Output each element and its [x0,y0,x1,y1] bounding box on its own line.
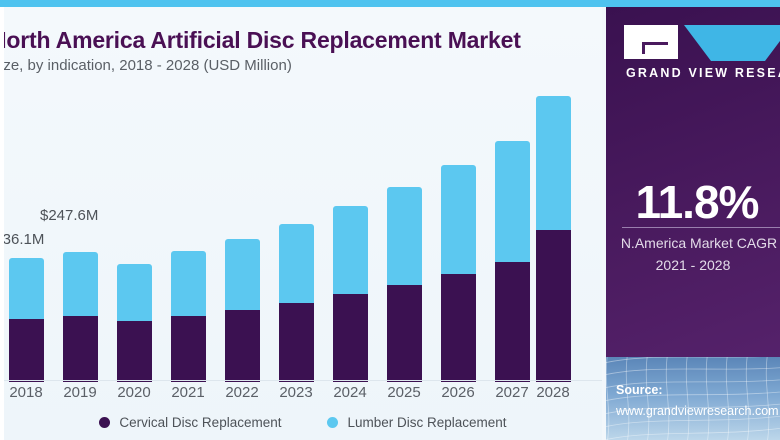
x-axis-labels: 2018201920202021202220232024202520262027… [4,384,602,406]
bar-group[interactable] [63,252,98,382]
bar-segment-lumber [441,165,476,274]
bar-segment-lumber [333,206,368,294]
x-axis-label: 2022 [213,384,271,401]
bar-segment-lumber [387,187,422,285]
logo-g-icon [624,25,678,59]
bar-segment-cervical [225,310,260,382]
bar-segment-lumber [225,239,260,310]
bar-segment-lumber [117,264,152,321]
bar-group[interactable] [441,165,476,382]
x-axis-label: 2028 [524,384,582,401]
top-accent-rule [0,0,780,7]
bar-segment-cervical [117,321,152,382]
legend-item-cervical[interactable]: Cervical Disc Replacement [99,415,281,430]
bar-segment-cervical [495,262,530,382]
bar-data-label: $247.6M [40,207,98,224]
page-title: North America Artificial Disc Replacemen… [4,27,602,54]
bar-group[interactable] [9,258,44,382]
bar-group[interactable] [495,141,530,382]
logo-v-triangle-icon [684,25,780,61]
legend-label-lumber: Lumber Disc Replacement [347,415,506,430]
bar-group[interactable] [225,239,260,382]
source-url[interactable]: www.grandviewresearch.com [616,404,779,418]
x-axis-label: 2020 [105,384,163,401]
bar-group[interactable] [333,206,368,382]
cagr-divider [622,227,780,228]
logo-marks [624,25,780,61]
bar-plot-area: $236.1M$247.6M [4,87,602,382]
legend-dot-cervical [99,417,110,428]
x-axis-label: 2025 [375,384,433,401]
x-axis-label: 2026 [429,384,487,401]
legend-label-cervical: Cervical Disc Replacement [119,415,281,430]
bar-segment-cervical [171,316,206,382]
bar-group[interactable] [536,96,571,382]
x-axis-label: 2021 [159,384,217,401]
legend-item-lumber[interactable]: Lumber Disc Replacement [327,415,506,430]
bar-segment-lumber [495,141,530,262]
cagr-years: 2021 - 2028 [606,257,780,273]
chart-legend: Cervical Disc Replacement Lumber Disc Re… [4,410,602,434]
bar-segment-cervical [333,294,368,382]
x-axis-label: 2019 [51,384,109,401]
cagr-caption: N.America Market CAGR [606,235,780,251]
bar-group[interactable] [117,264,152,382]
logo-wordmark: GRAND VIEW RESEARCH [626,66,780,80]
bar-segment-cervical [279,303,314,382]
legend-dot-lumber [327,417,338,428]
x-axis-label: 2023 [267,384,325,401]
footer-mesh-graphic: Source: www.grandviewresearch.com [606,357,780,440]
bar-segment-lumber [63,252,98,316]
x-axis-label: 2018 [4,384,55,401]
source-label: Source: [616,383,663,397]
brand-logo: GRAND VIEW RESEARCH [624,19,780,81]
bar-segment-cervical [441,274,476,382]
bar-data-label: $236.1M [4,231,44,248]
x-axis-label: 2024 [321,384,379,401]
bar-segment-lumber [279,224,314,303]
bar-segment-cervical [63,316,98,382]
bar-segment-cervical [387,285,422,382]
bar-group[interactable] [171,251,206,382]
bar-segment-cervical [9,319,44,382]
bar-segment-lumber [171,251,206,316]
mesh-lines-icon [606,357,780,440]
bar-segment-lumber [536,96,571,230]
bar-group[interactable] [387,187,422,382]
bar-segment-lumber [9,258,44,319]
infographic-root: North America Artificial Disc Replacemen… [0,0,780,440]
bar-group[interactable] [279,224,314,382]
bar-segment-cervical [536,230,571,382]
page-subtitle: Size, by indication, 2018 - 2028 (USD Mi… [4,57,602,74]
cagr-value: 11.8% [606,175,780,229]
axis-baseline [4,380,602,381]
sidebar-panel: GRAND VIEW RESEARCH 11.8% N.America Mark… [606,7,780,440]
chart-panel: North America Artificial Disc Replacemen… [4,7,602,440]
